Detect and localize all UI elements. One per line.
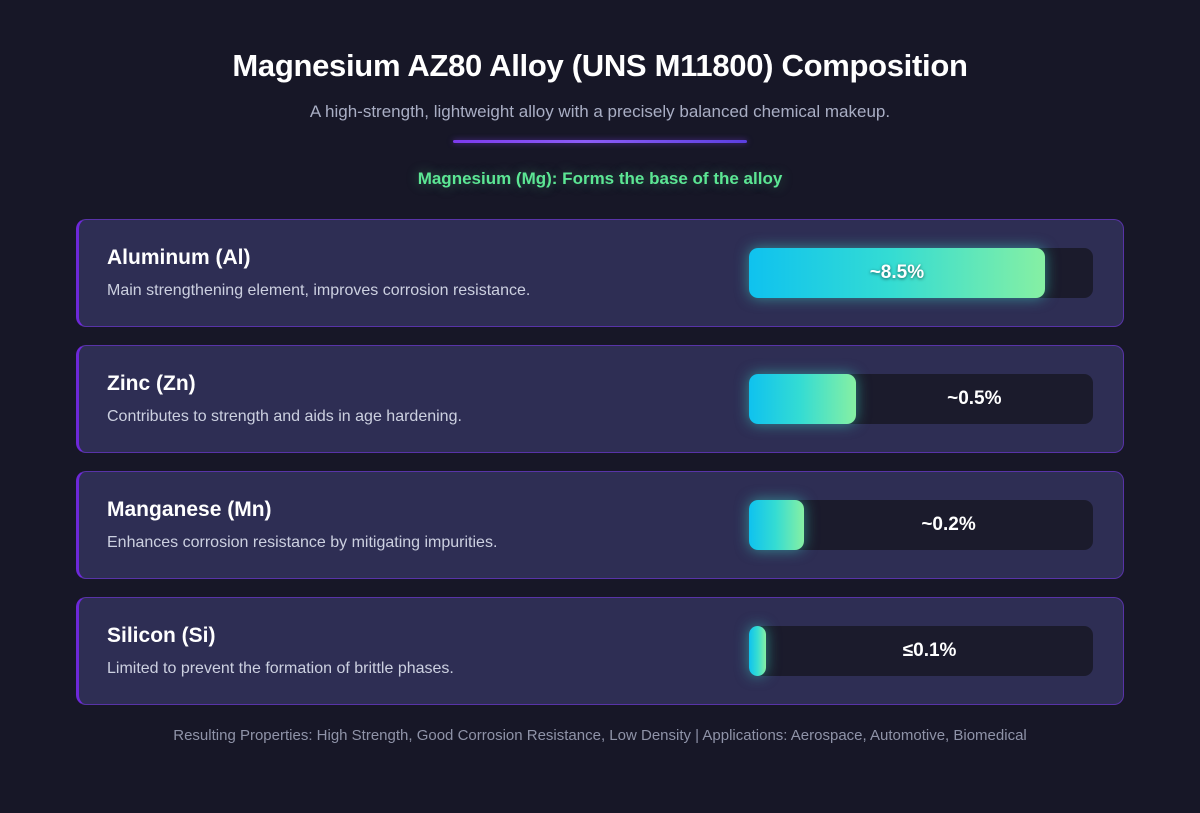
bar-value: ≤0.1% [766,640,1093,662]
element-description: Main strengthening element, improves cor… [107,281,731,301]
bar-track: ~0.2% [749,500,1093,550]
bar-track: ~8.5% [749,248,1093,298]
element-description: Enhances corrosion resistance by mitigat… [107,533,731,553]
element-name: Silicon (Si) [107,623,731,649]
bar-value: ~8.5% [870,262,924,284]
bar-fill: ~8.5% [749,248,1045,298]
bar-fill [749,374,856,424]
bar-track: ~0.5% [749,374,1093,424]
element-info: Aluminum (Al) Main strengthening element… [107,245,731,301]
element-list: Aluminum (Al) Main strengthening element… [0,219,1200,705]
list-item[interactable]: Aluminum (Al) Main strengthening element… [76,219,1124,327]
composition-infographic: Magnesium AZ80 Alloy (UNS M11800) Compos… [0,0,1200,813]
element-bar: ≤0.1% [749,626,1093,676]
element-name: Zinc (Zn) [107,371,731,397]
list-item[interactable]: Silicon (Si) Limited to prevent the form… [76,597,1124,705]
bar-track: ≤0.1% [749,626,1093,676]
title-divider [453,140,747,143]
footer-note: Resulting Properties: High Strength, Goo… [0,725,1200,747]
element-bar: ~0.5% [749,374,1093,424]
header: Magnesium AZ80 Alloy (UNS M11800) Compos… [0,0,1200,189]
element-description: Limited to prevent the formation of brit… [107,659,731,679]
element-bar: ~8.5% [749,248,1093,298]
base-element-note: Magnesium (Mg): Forms the base of the al… [0,169,1200,189]
bar-value: ~0.5% [856,388,1093,410]
page-subtitle: A high-strength, lightweight alloy with … [0,100,1200,124]
bar-fill [749,500,804,550]
list-item[interactable]: Zinc (Zn) Contributes to strength and ai… [76,345,1124,453]
element-name: Aluminum (Al) [107,245,731,271]
bar-fill [749,626,766,676]
bar-value: ~0.2% [804,514,1093,536]
element-bar: ~0.2% [749,500,1093,550]
element-name: Manganese (Mn) [107,497,731,523]
element-description: Contributes to strength and aids in age … [107,407,731,427]
page-title: Magnesium AZ80 Alloy (UNS M11800) Compos… [0,46,1200,86]
element-info: Manganese (Mn) Enhances corrosion resist… [107,497,731,553]
list-item[interactable]: Manganese (Mn) Enhances corrosion resist… [76,471,1124,579]
element-info: Zinc (Zn) Contributes to strength and ai… [107,371,731,427]
element-info: Silicon (Si) Limited to prevent the form… [107,623,731,679]
